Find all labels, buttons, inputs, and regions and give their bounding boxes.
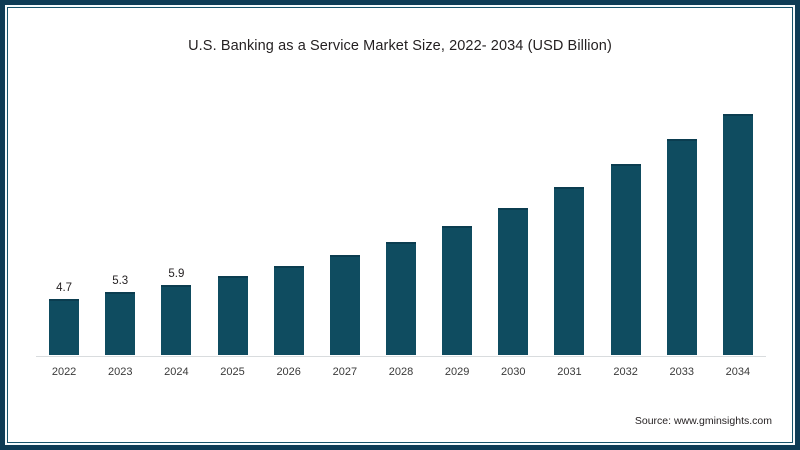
bar-slot: [710, 95, 766, 355]
x-tick-2025: 2025: [204, 366, 260, 378]
bar-slot: 5.3: [92, 95, 148, 355]
x-tick-2033: 2033: [654, 366, 710, 378]
bar-2031: [554, 187, 584, 355]
bar-slot: 4.7: [36, 95, 92, 355]
x-tick-2031: 2031: [541, 366, 597, 378]
bar-2027: [330, 255, 360, 355]
bar-2022: [49, 299, 79, 355]
bar-value-label-2024: 5.9: [148, 268, 204, 280]
bar-slot: [598, 95, 654, 355]
bar-2033: [667, 139, 697, 355]
x-tick-2027: 2027: [317, 366, 373, 378]
bar-slot: [541, 95, 597, 355]
chart-figure: U.S. Banking as a Service Market Size, 2…: [0, 0, 800, 450]
bar-2032: [611, 164, 641, 355]
bar-slot: [317, 95, 373, 355]
x-tick-2028: 2028: [373, 366, 429, 378]
x-axis-tick-labels: 2022202320242025202620272028202920302031…: [36, 366, 766, 386]
x-tick-2024: 2024: [148, 366, 204, 378]
x-tick-2029: 2029: [429, 366, 485, 378]
bar-value-label-2022: 4.7: [36, 282, 92, 294]
bar-series: 4.75.35.9: [36, 95, 766, 355]
bar-2023: [105, 292, 135, 355]
bar-2025: [218, 276, 248, 355]
x-tick-2026: 2026: [261, 366, 317, 378]
bar-slot: [654, 95, 710, 355]
bar-2029: [442, 226, 472, 355]
x-tick-2034: 2034: [710, 366, 766, 378]
bar-2026: [274, 266, 304, 355]
bar-2024: [161, 285, 191, 355]
x-tick-2030: 2030: [485, 366, 541, 378]
x-axis-line: [36, 356, 766, 357]
bar-slot: [485, 95, 541, 355]
x-tick-2023: 2023: [92, 366, 148, 378]
bar-value-label-2023: 5.3: [92, 275, 148, 287]
bar-2028: [386, 242, 416, 355]
bar-slot: 5.9: [148, 95, 204, 355]
plot-area: 4.75.35.9: [36, 95, 766, 357]
bar-slot: [204, 95, 260, 355]
chart-title: U.S. Banking as a Service Market Size, 2…: [0, 38, 800, 54]
bar-slot: [261, 95, 317, 355]
bar-slot: [373, 95, 429, 355]
x-tick-2032: 2032: [598, 366, 654, 378]
bar-slot: [429, 95, 485, 355]
x-tick-2022: 2022: [36, 366, 92, 378]
source-attribution: Source: www.gminsights.com: [635, 415, 772, 427]
bar-2030: [498, 208, 528, 355]
bar-2034: [723, 114, 753, 355]
